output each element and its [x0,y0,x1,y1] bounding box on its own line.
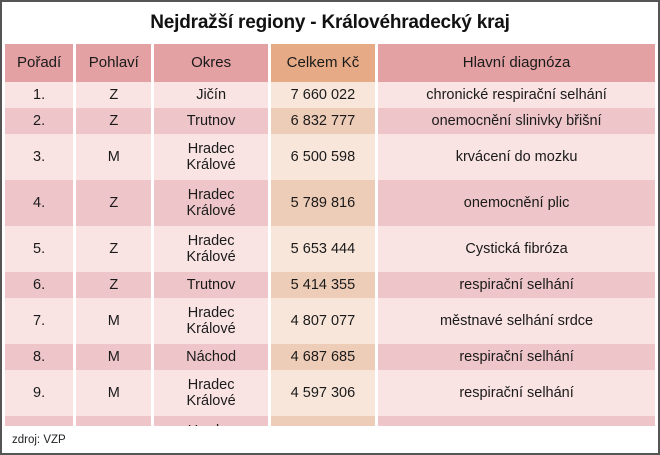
cell-diagnosis: respirační selhání [378,272,655,298]
cell-rank: 4. [5,180,73,226]
table-body: 1.ZJičín7 660 022chronické respirační se… [5,82,655,455]
table-row: 4.ZHradecKrálové5 789 816onemocnění plic [5,180,655,226]
cell-okres-line2: Králové [154,249,267,265]
cell-total-amount: 5 414 355 [271,272,375,298]
cell-diagnosis: městnavé selhání srdce [378,298,655,344]
cell-sex: Z [76,272,151,298]
cell-total-amount: 6 500 598 [271,134,375,180]
cell-okres: HradecKrálové [154,180,267,226]
cell-diagnosis: respirační selhání [378,344,655,370]
figure-footer: zdroj: VZP [2,426,658,453]
page-title: Nejdražší regiony - Královéhradecký kraj [150,12,510,34]
cell-okres-line2: Králové [154,203,267,219]
cell-rank: 1. [5,82,73,108]
table-row: 7.MHradecKrálové4 807 077městnavé selhán… [5,298,655,344]
cell-sex: M [76,134,151,180]
table-figure: Nejdražší regiony - Královéhradecký kraj… [0,0,660,455]
cell-sex: Z [76,180,151,226]
column-header-diagnosis: Hlavní diagnóza [378,44,655,82]
cell-sex: M [76,344,151,370]
cell-diagnosis: onemocnění plic [378,180,655,226]
cell-total-amount: 7 660 022 [271,82,375,108]
cell-sex: Z [76,108,151,134]
cell-diagnosis: krvácení do mozku [378,134,655,180]
cell-sex: M [76,370,151,416]
cell-total-amount: 6 832 777 [271,108,375,134]
source-note: zdroj: VZP [2,434,66,446]
cell-okres-line2: Králové [154,321,267,337]
cell-okres: HradecKrálové [154,226,267,272]
data-table: Pořadí Pohlaví Okres Celkem Kč Hlavní di… [2,44,658,455]
cell-total-amount: 4 687 685 [271,344,375,370]
cell-okres-line1: Hradec [154,187,267,203]
cell-rank: 3. [5,134,73,180]
cell-rank: 7. [5,298,73,344]
cell-rank: 2. [5,108,73,134]
column-header-okres: Okres [154,44,267,82]
cell-sex: M [76,298,151,344]
column-header-sex: Pohlaví [76,44,151,82]
cell-rank: 5. [5,226,73,272]
cell-okres: Trutnov [154,272,267,298]
cell-okres: Jičín [154,82,267,108]
table-row: 5.ZHradecKrálové5 653 444Cystická fibróz… [5,226,655,272]
cell-okres-line1: Hradec [154,233,267,249]
figure-title-band: Nejdražší regiony - Královéhradecký kraj [2,2,658,44]
cell-okres: HradecKrálové [154,370,267,416]
cell-okres: HradecKrálové [154,298,267,344]
cell-total-amount: 4 597 306 [271,370,375,416]
column-header-rank: Pořadí [5,44,73,82]
cell-okres-line1: Hradec [154,377,267,393]
table-row: 6.ZTrutnov5 414 355respirační selhání [5,272,655,298]
cell-diagnosis: Cystická fibróza [378,226,655,272]
cell-rank: 8. [5,344,73,370]
table-row: 1.ZJičín7 660 022chronické respirační se… [5,82,655,108]
column-header-celkem: Celkem Kč [271,44,375,82]
table-row: 8.MNáchod4 687 685respirační selhání [5,344,655,370]
cell-total-amount: 5 653 444 [271,226,375,272]
header-row: Pořadí Pohlaví Okres Celkem Kč Hlavní di… [5,44,655,82]
cell-total-amount: 5 789 816 [271,180,375,226]
cell-okres: Trutnov [154,108,267,134]
cell-okres-line2: Králové [154,157,267,173]
cell-diagnosis: chronické respirační selhání [378,82,655,108]
cell-diagnosis: onemocnění slinivky břišní [378,108,655,134]
cell-okres: HradecKrálové [154,134,267,180]
table-row: 2.ZTrutnov6 832 777onemocnění slinivky b… [5,108,655,134]
cell-rank: 6. [5,272,73,298]
cell-okres-line1: Hradec [154,141,267,157]
cell-okres-line2: Králové [154,393,267,409]
table-row: 3.MHradecKrálové6 500 598krvácení do moz… [5,134,655,180]
cell-okres-line1: Hradec [154,305,267,321]
cell-sex: Z [76,82,151,108]
table-row: 9.MHradecKrálové4 597 306respirační selh… [5,370,655,416]
cell-okres: Náchod [154,344,267,370]
cell-sex: Z [76,226,151,272]
cell-diagnosis: respirační selhání [378,370,655,416]
table-header: Pořadí Pohlaví Okres Celkem Kč Hlavní di… [5,44,655,82]
cell-total-amount: 4 807 077 [271,298,375,344]
cell-rank: 9. [5,370,73,416]
